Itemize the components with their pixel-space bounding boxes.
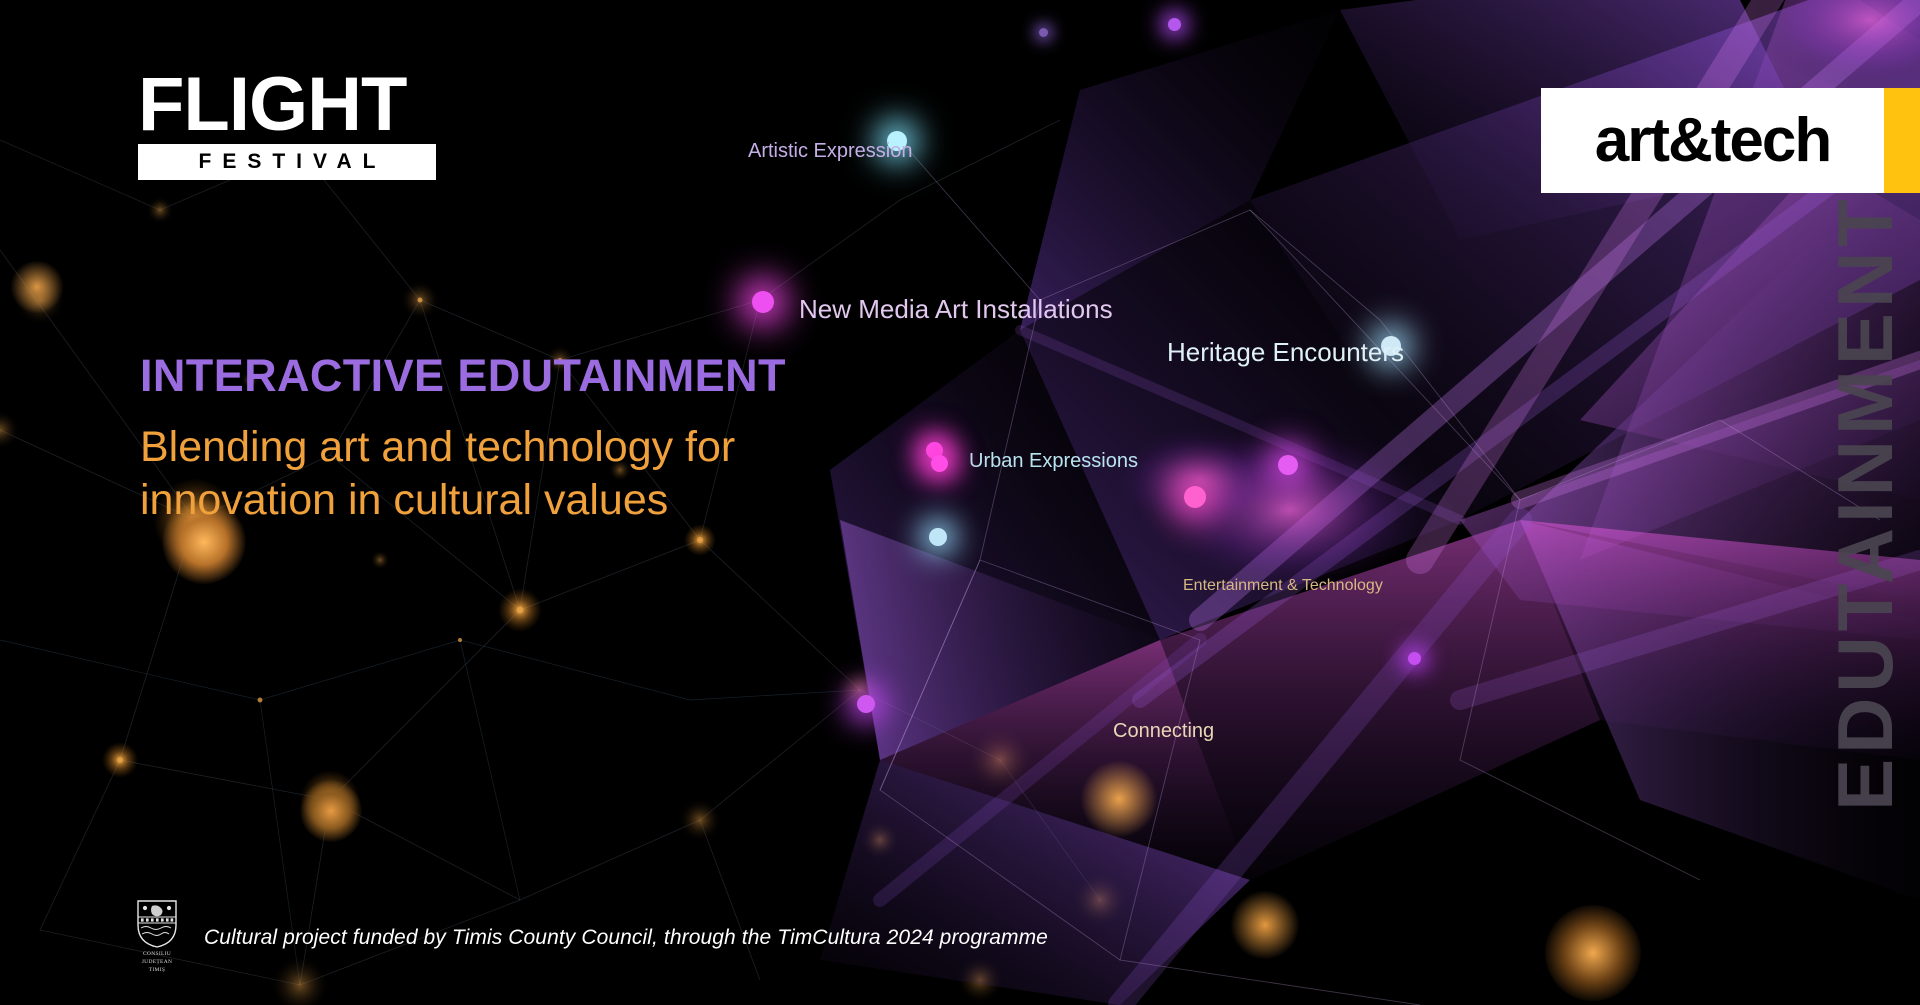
subtitle-line-2: innovation in cultural values bbox=[140, 474, 900, 526]
crest-shield-icon bbox=[136, 899, 178, 949]
network-node-label[interactable]: Heritage Encounters bbox=[1167, 337, 1404, 368]
headline-block: INTERACTIVE EDUTAINMENT Blending art and… bbox=[140, 352, 900, 526]
network-node-dot bbox=[1184, 486, 1206, 508]
flight-wordmark: FLIGHT bbox=[138, 72, 438, 137]
page-title: INTERACTIVE EDUTAINMENT bbox=[140, 352, 900, 399]
network-accent-dot bbox=[929, 528, 947, 546]
funding-credit-text: Cultural project funded by Timis County … bbox=[204, 926, 1048, 950]
network-accent-dot bbox=[931, 455, 948, 472]
arttech-wordmark: art&tech bbox=[1595, 105, 1831, 176]
network-node-dot bbox=[752, 291, 774, 313]
network-node-label[interactable]: Urban Expressions bbox=[969, 450, 1138, 473]
network-accent-dot bbox=[1278, 455, 1298, 475]
network-node-label[interactable]: New Media Art Installations bbox=[799, 294, 1113, 325]
festival-wordmark: FESTIVAL bbox=[188, 150, 387, 174]
subtitle-line-1: Blending art and technology for bbox=[140, 421, 900, 473]
festival-bar: FESTIVAL bbox=[138, 144, 436, 180]
arttech-accent-bar bbox=[1884, 88, 1920, 193]
network-accent-dot bbox=[1039, 28, 1048, 37]
bokeh-dot bbox=[1230, 890, 1300, 960]
bokeh-dot bbox=[1080, 760, 1158, 838]
flight-festival-logo[interactable]: FLIGHT FESTIVAL bbox=[138, 72, 438, 180]
network-accent-dot bbox=[857, 695, 875, 713]
crest-caption-line-1: CONSILIU JUDEȚEAN bbox=[128, 951, 186, 967]
network-node-label[interactable]: Artistic Expression bbox=[748, 140, 913, 163]
bokeh-dot bbox=[300, 780, 362, 842]
arttech-logo-plate: art&tech bbox=[1541, 88, 1884, 193]
network-accent-dot bbox=[1168, 18, 1181, 31]
timis-county-crest-logo: CONSILIU JUDEȚEAN TIMIȘ bbox=[128, 899, 186, 977]
arttech-logo[interactable]: art&tech bbox=[1541, 88, 1920, 193]
bokeh-dot bbox=[1545, 905, 1641, 1001]
footer: CONSILIU JUDEȚEAN TIMIȘ Cultural project… bbox=[128, 899, 1048, 977]
crest-caption: CONSILIU JUDEȚEAN TIMIȘ bbox=[128, 951, 186, 975]
poster-stage: FLIGHT FESTIVAL art&tech INTERACTIVE EDU… bbox=[0, 0, 1920, 1005]
network-node-dot bbox=[1408, 652, 1421, 665]
page-subtitle: Blending art and technology for innovati… bbox=[140, 421, 900, 526]
crest-caption-line-2: TIMIȘ bbox=[128, 967, 186, 975]
vertical-edutainment-text: EDUTAINMENT bbox=[1820, 194, 1911, 811]
bokeh-dot bbox=[10, 260, 64, 314]
network-node-label[interactable]: Connecting bbox=[1113, 720, 1214, 743]
network-node-label[interactable]: Entertainment & Technology bbox=[1183, 577, 1383, 595]
